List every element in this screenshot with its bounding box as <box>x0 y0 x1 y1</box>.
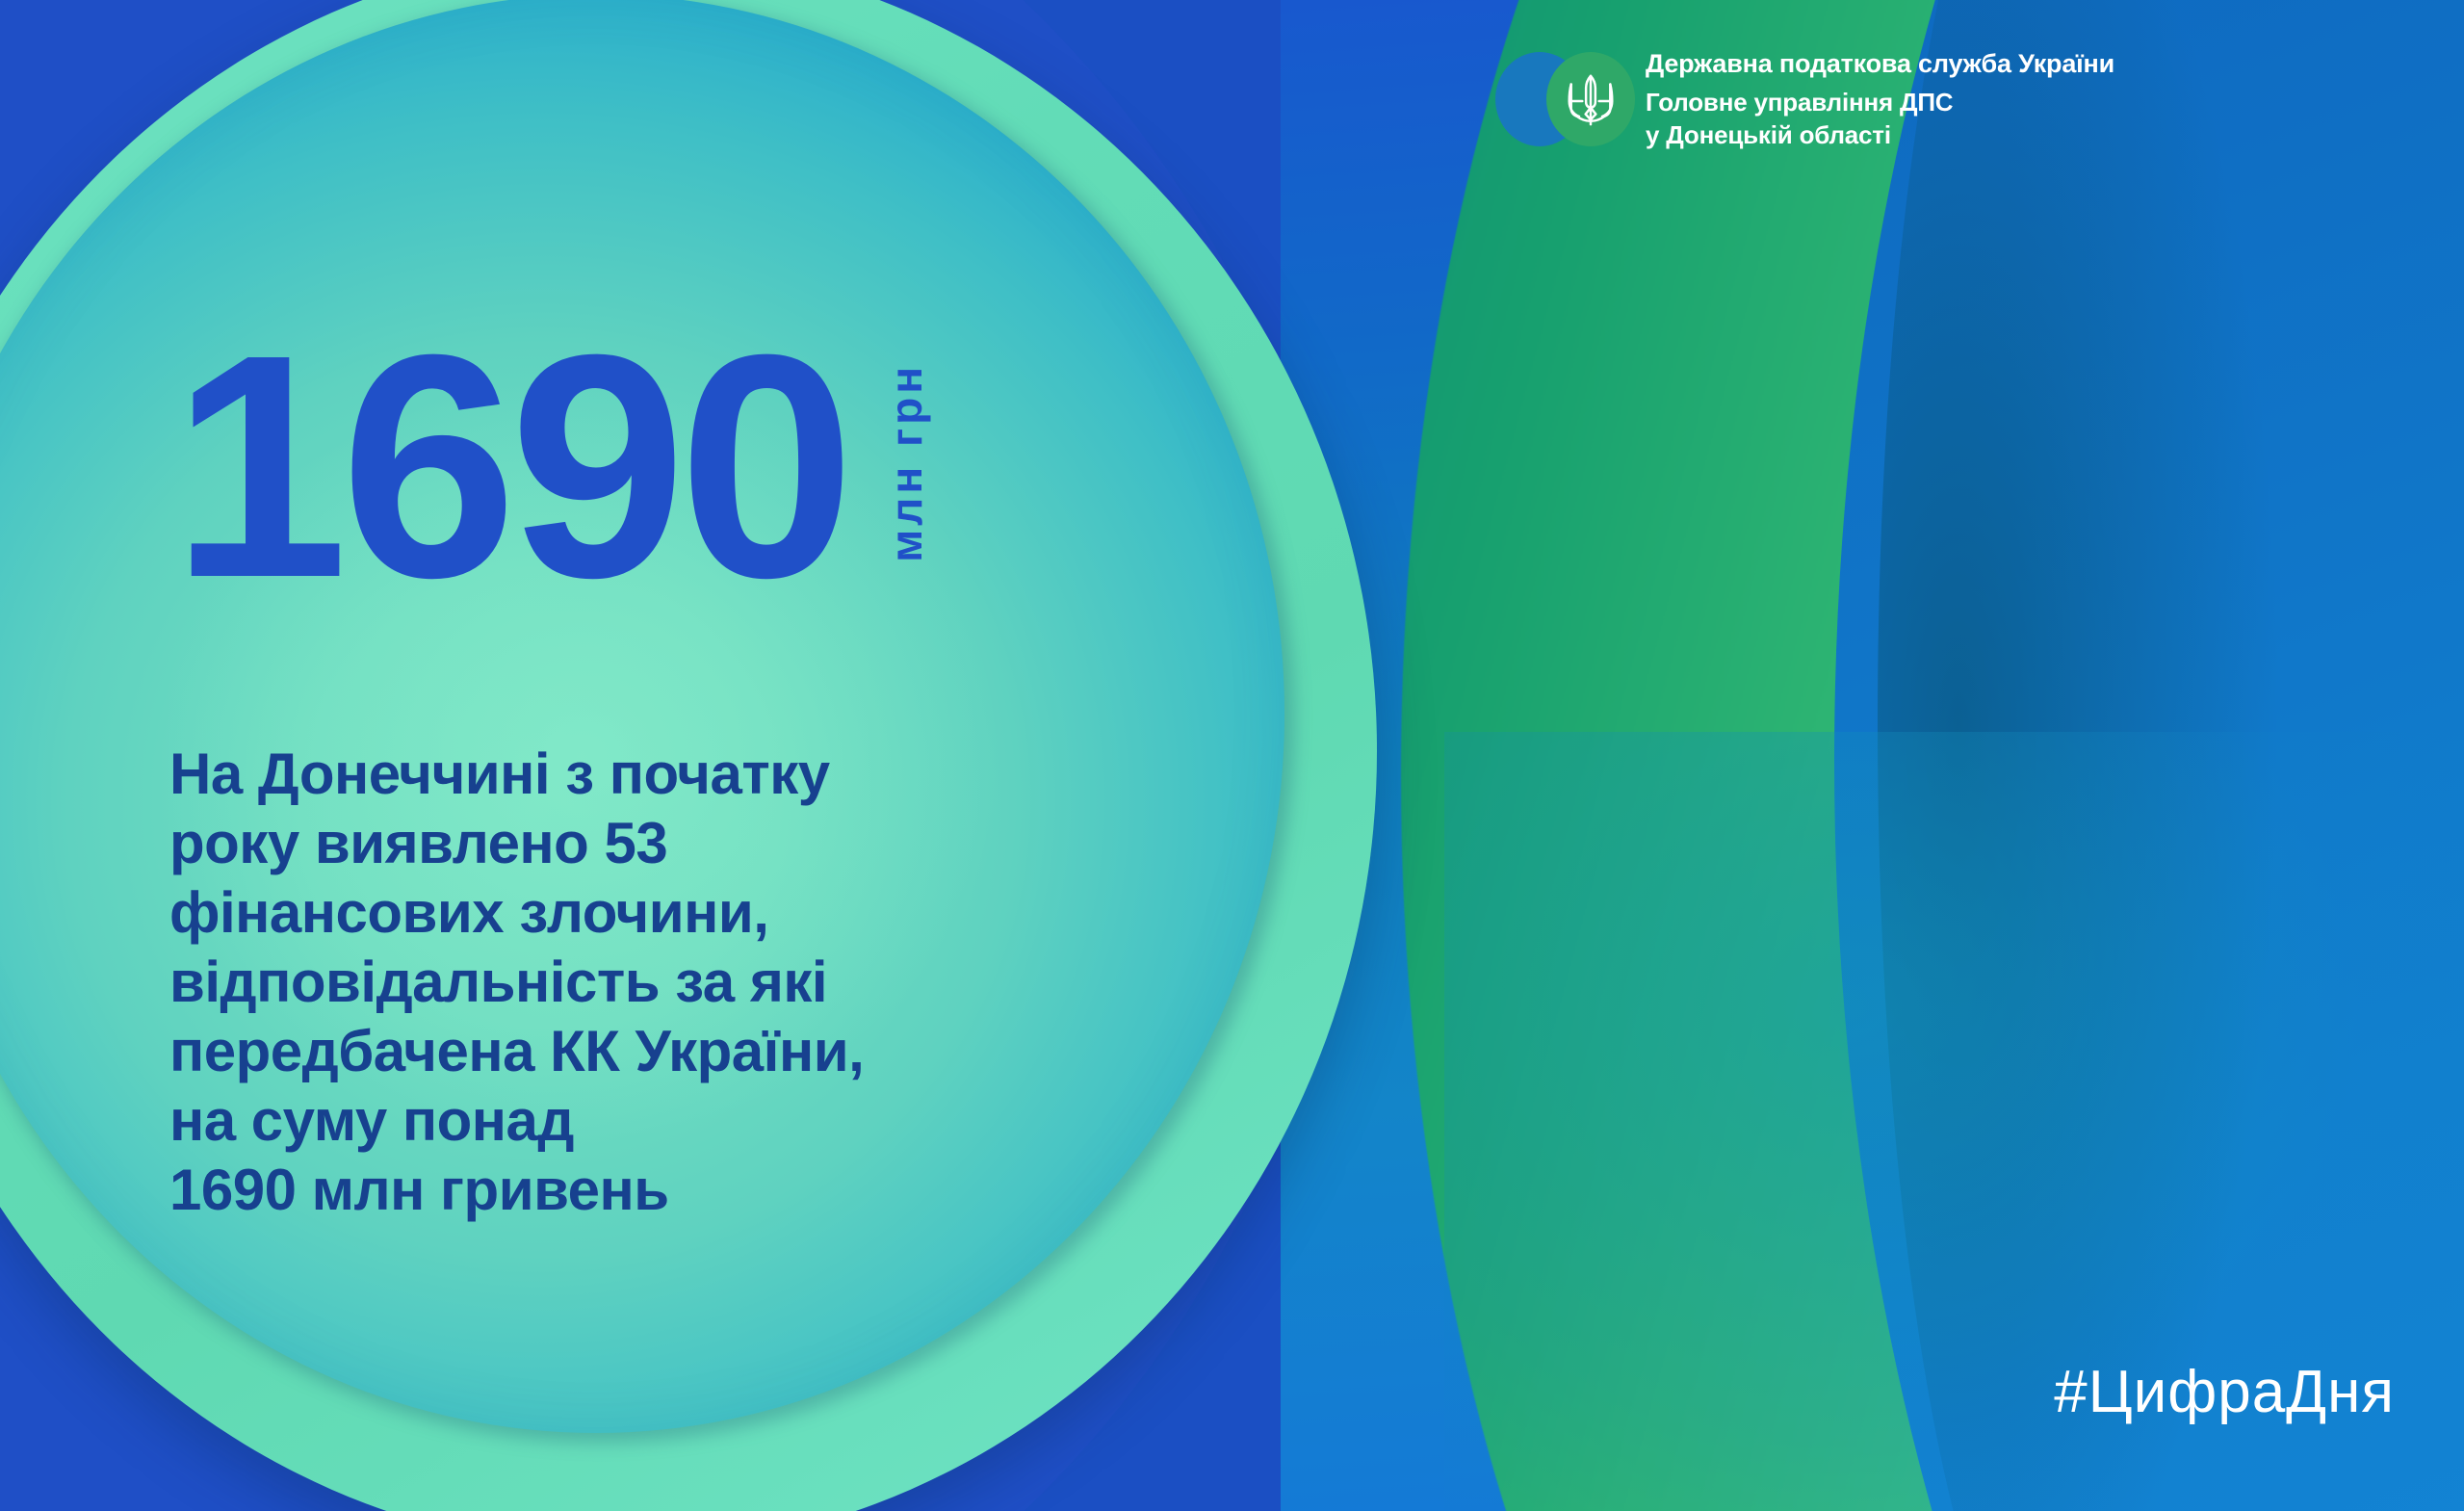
campaign-hashtag: #ЦифраДня <box>2054 1358 2395 1426</box>
statistic-block: 1690 млн грн <box>171 342 932 589</box>
organization-logo: Державна податкова служба України Головн… <box>1495 46 2114 152</box>
poster-content: 1690 млн грн На Донеччині з початку року… <box>0 0 1367 1511</box>
description-line: На Донеччині з початку <box>169 740 1200 809</box>
description-line: передбачена КК України, <box>169 1017 1200 1086</box>
description-line: на суму понад <box>169 1086 1200 1156</box>
description-line: року виявлено 53 <box>169 809 1200 878</box>
statistic-value: 1690 <box>171 342 847 589</box>
description-line: відповідальність за які <box>169 948 1200 1017</box>
logo-emblem <box>1495 46 1638 152</box>
description-text: На Донеччині з початку року виявлено 53 … <box>169 740 1200 1225</box>
ukraine-trident-icon <box>1564 71 1618 129</box>
logo-line-3: у Донецькій області <box>1646 119 2114 151</box>
infographic-poster: 1690 млн грн На Донеччині з початку року… <box>0 0 2464 1511</box>
description-line: 1690 млн гривень <box>169 1156 1200 1225</box>
statistic-unit: млн грн <box>880 363 932 562</box>
description-line: фінансових злочини, <box>169 878 1200 948</box>
logo-line-1: Державна податкова служба України <box>1646 47 2114 81</box>
logo-text-block: Державна податкова служба України Головн… <box>1646 47 2114 151</box>
logo-line-2: Головне управління ДПС <box>1646 87 2114 118</box>
